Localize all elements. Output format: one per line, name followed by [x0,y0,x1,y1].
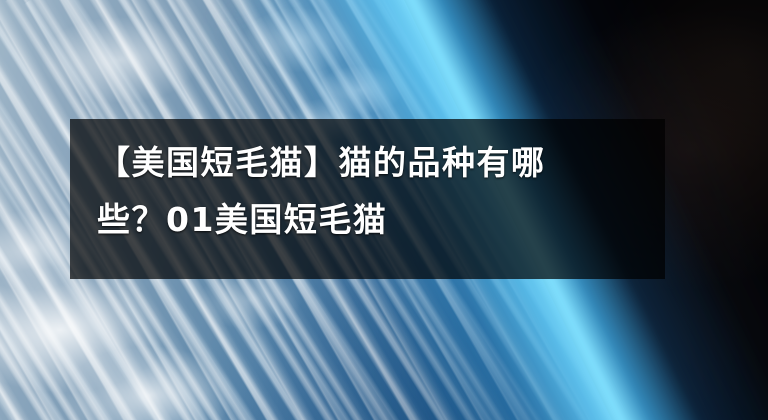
screenshot-root: 【美国短毛猫】猫的品种有哪 些？01美国短毛猫 [0,0,768,420]
caption-line-2: 些？01美国短毛猫 [97,191,657,248]
caption-line-1: 【美国短毛猫】猫的品种有哪 [97,134,657,191]
